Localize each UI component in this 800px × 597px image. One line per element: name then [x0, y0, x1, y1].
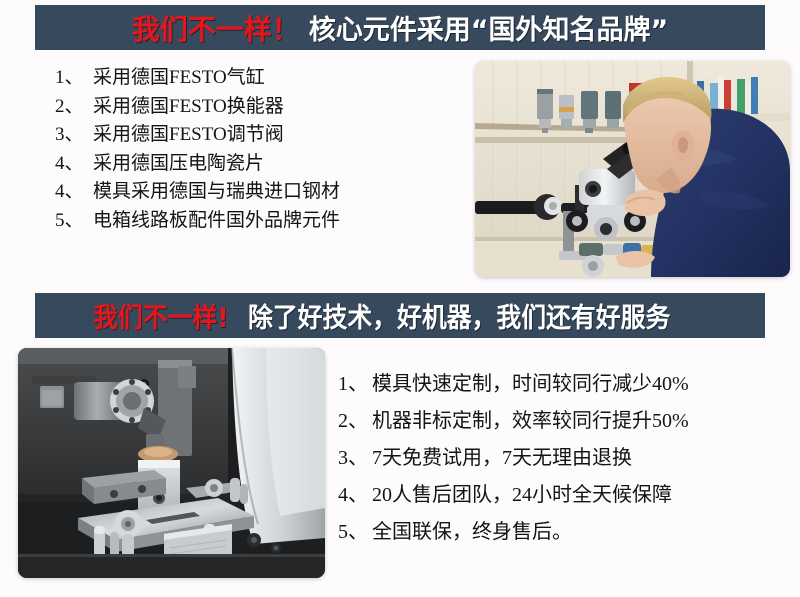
- list-item-number: 1、: [55, 64, 93, 93]
- list-item-number: 3、: [338, 440, 372, 477]
- list-item-label: 电箱线路板配件国外品牌元件: [93, 207, 340, 236]
- list-item-label: 模具采用德国与瑞典进口钢材: [93, 178, 340, 207]
- banner-2-highlight-text: 我们不一样!: [93, 296, 229, 335]
- list-item-label: 采用德国FESTO调节阀: [93, 121, 284, 150]
- list-item-number: 3、: [55, 121, 93, 150]
- list-item-number: 2、: [55, 93, 93, 122]
- bottom-section: 1、 模具快速定制，时间较同行减少40% 2、 机器非标定制，效率较同行提升50…: [0, 338, 800, 597]
- technician-microscope-photo: [475, 61, 790, 277]
- list-item-label: 20人售后团队，24小时全天候保障: [372, 477, 672, 514]
- list-item-label: 采用德国压电陶瓷片: [93, 150, 264, 179]
- list-item-label: 采用德国FESTO换能器: [93, 93, 284, 122]
- list-item: 4、 20人售后团队，24小时全天候保障: [338, 477, 778, 514]
- list-item: 2、 采用德国FESTO换能器: [55, 93, 455, 122]
- banner-1-highlight-text: 我们不一样！: [132, 8, 300, 48]
- top-section: 1、 采用德国FESTO气缸 2、 采用德国FESTO换能器 3、 采用德国FE…: [0, 50, 800, 293]
- promo-page: 我们不一样！ 核心元件采用“国外知名品牌” 1、 采用德国FESTO气缸 2、 …: [0, 0, 800, 597]
- list-item-label: 全国联保，终身售后。: [372, 514, 572, 551]
- list-item: 1、 模具快速定制，时间较同行减少40%: [338, 366, 778, 403]
- list-item: 5、 电箱线路板配件国外品牌元件: [55, 207, 455, 236]
- list-item: 1、 采用德国FESTO气缸: [55, 64, 455, 93]
- list-item-number: 2、: [338, 403, 372, 440]
- machine-tooling-illustration: [18, 348, 325, 578]
- list-item: 3、 采用德国FESTO调节阀: [55, 121, 455, 150]
- list-item-label: 7天免费试用，7天无理由退换: [372, 440, 632, 477]
- banner-core-components: 我们不一样！ 核心元件采用“国外知名品牌”: [35, 5, 765, 50]
- list-item-number: 5、: [55, 207, 93, 236]
- banner-2-title-text: 除了好技术，好机器，我们还有好服务: [248, 296, 670, 335]
- core-components-list: 1、 采用德国FESTO气缸 2、 采用德国FESTO换能器 3、 采用德国FE…: [55, 64, 455, 235]
- list-item: 2、 机器非标定制，效率较同行提升50%: [338, 403, 778, 440]
- list-item: 4、 模具采用德国与瑞典进口钢材: [55, 178, 455, 207]
- list-item: 4、 采用德国压电陶瓷片: [55, 150, 455, 179]
- list-item-label: 机器非标定制，效率较同行提升50%: [372, 403, 689, 440]
- list-item: 3、 7天免费试用，7天无理由退换: [338, 440, 778, 477]
- list-item-number: 4、: [55, 150, 93, 179]
- banner-1-title-text: 核心元件采用“国外知名品牌”: [309, 8, 669, 47]
- list-item-number: 5、: [338, 514, 372, 551]
- machine-tooling-closeup-photo: [18, 348, 325, 578]
- banner-service: 我们不一样! 除了好技术，好机器，我们还有好服务: [35, 293, 765, 338]
- list-item: 5、 全国联保，终身售后。: [338, 514, 778, 551]
- technician-microscope-illustration: [475, 61, 790, 277]
- list-item-number: 4、: [55, 178, 93, 207]
- list-item-number: 4、: [338, 477, 372, 514]
- list-item-label: 模具快速定制，时间较同行减少40%: [372, 366, 689, 403]
- list-item-label: 采用德国FESTO气缸: [93, 64, 265, 93]
- list-item-number: 1、: [338, 366, 372, 403]
- service-list: 1、 模具快速定制，时间较同行减少40% 2、 机器非标定制，效率较同行提升50…: [338, 366, 778, 551]
